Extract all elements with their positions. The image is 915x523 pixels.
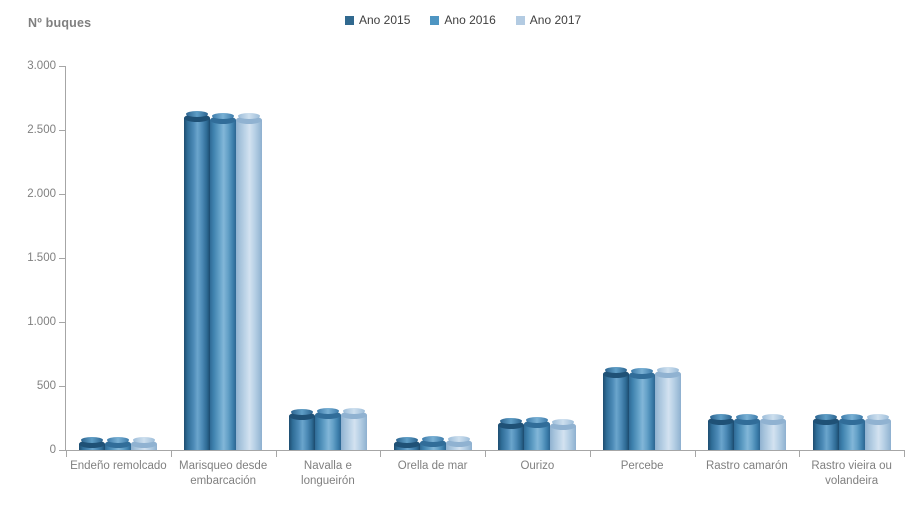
bar-top-ellipse-inner bbox=[657, 367, 679, 373]
x-axis-tick-mark bbox=[380, 450, 381, 457]
bar-top-ellipse-inner bbox=[186, 111, 208, 117]
bar-top-ellipse bbox=[341, 411, 367, 419]
bar-group bbox=[603, 66, 681, 450]
bar[interactable] bbox=[131, 444, 157, 450]
bar-top-ellipse-inner bbox=[238, 113, 260, 119]
bar-top-ellipse-inner bbox=[762, 414, 784, 420]
bar-body bbox=[341, 415, 367, 450]
bar-top-ellipse bbox=[839, 417, 865, 425]
y-axis-title: Nº buques bbox=[28, 16, 91, 30]
bar[interactable] bbox=[315, 415, 341, 450]
x-axis-tick-mark bbox=[276, 450, 277, 457]
bar-top-ellipse-inner bbox=[867, 414, 889, 420]
bar-top-ellipse bbox=[446, 439, 472, 447]
x-axis-tick-mark bbox=[799, 450, 800, 457]
bar[interactable] bbox=[865, 421, 891, 450]
bar-body bbox=[865, 421, 891, 450]
x-axis-tick-mark bbox=[66, 450, 67, 457]
bar-body bbox=[184, 118, 210, 450]
bar[interactable] bbox=[629, 375, 655, 450]
y-axis-tick-label: 0 bbox=[10, 444, 56, 456]
bar-body bbox=[655, 374, 681, 450]
bar[interactable] bbox=[394, 444, 420, 450]
legend-label-ano-2015: Ano 2015 bbox=[359, 13, 410, 27]
bar-top-ellipse-inner bbox=[422, 436, 444, 442]
bar[interactable] bbox=[420, 443, 446, 450]
y-axis-tick-label: 3.000 bbox=[10, 60, 56, 72]
legend-swatch-ano-2015 bbox=[345, 16, 354, 25]
bar-top-ellipse-inner bbox=[81, 437, 103, 443]
bar[interactable] bbox=[498, 425, 524, 450]
legend-swatch-ano-2016 bbox=[430, 16, 439, 25]
bar-body bbox=[813, 421, 839, 450]
bar-chart: Nº buques Ano 2015 Ano 2016 Ano 2017 050… bbox=[0, 0, 915, 523]
bar[interactable] bbox=[813, 421, 839, 450]
bar-body bbox=[289, 416, 315, 450]
bar-top-ellipse-inner bbox=[107, 437, 129, 443]
bar-group bbox=[289, 66, 367, 450]
bar-body bbox=[236, 120, 262, 450]
bar[interactable] bbox=[236, 120, 262, 450]
bar[interactable] bbox=[341, 415, 367, 450]
x-axis-category-label: Endeño remolcado bbox=[66, 459, 171, 474]
bar-body bbox=[734, 421, 760, 450]
legend-swatch-ano-2017 bbox=[516, 16, 525, 25]
bar-top-ellipse bbox=[420, 439, 446, 447]
x-axis-tick-mark bbox=[171, 450, 172, 457]
bar-top-ellipse-inner bbox=[710, 414, 732, 420]
bar-group bbox=[498, 66, 576, 450]
x-axis-tick-mark bbox=[590, 450, 591, 457]
legend-item-ano-2016[interactable]: Ano 2016 bbox=[430, 13, 495, 27]
y-axis-tick-label: 2.000 bbox=[10, 188, 56, 200]
bar-body bbox=[315, 415, 341, 450]
x-axis-category-label: Rastro vieira ou volandeira bbox=[799, 459, 904, 489]
bar-top-ellipse-inner bbox=[317, 408, 339, 414]
bar[interactable] bbox=[655, 374, 681, 450]
bar-top-ellipse-inner bbox=[343, 408, 365, 414]
bar[interactable] bbox=[79, 444, 105, 450]
bar-body bbox=[708, 421, 734, 450]
bar-top-ellipse-inner bbox=[631, 368, 653, 374]
bar[interactable] bbox=[760, 421, 786, 450]
legend-label-ano-2017: Ano 2017 bbox=[530, 13, 581, 27]
bar-group bbox=[79, 66, 157, 450]
bar-body bbox=[210, 120, 236, 450]
bar-top-ellipse-inner bbox=[448, 436, 470, 442]
bar-body bbox=[629, 375, 655, 450]
bar-top-ellipse-inner bbox=[605, 367, 627, 373]
bar[interactable] bbox=[603, 374, 629, 450]
bar-group bbox=[184, 66, 262, 450]
bar-top-ellipse bbox=[131, 440, 157, 448]
bar-group bbox=[813, 66, 891, 450]
bar-top-ellipse bbox=[734, 417, 760, 425]
bar[interactable] bbox=[708, 421, 734, 450]
x-axis-category-label: Orella de mar bbox=[380, 459, 485, 474]
bar[interactable] bbox=[289, 416, 315, 450]
y-axis-tick-label: 500 bbox=[10, 380, 56, 392]
bar[interactable] bbox=[550, 426, 576, 450]
bar-top-ellipse bbox=[708, 417, 734, 425]
x-axis-tick-mark bbox=[695, 450, 696, 457]
bar-body bbox=[603, 374, 629, 450]
bar-top-ellipse-inner bbox=[396, 437, 418, 443]
bar[interactable] bbox=[734, 421, 760, 450]
bar-body bbox=[760, 421, 786, 450]
x-axis-category-label: Ourizo bbox=[485, 459, 590, 474]
bar-top-ellipse bbox=[550, 422, 576, 430]
bar-body bbox=[839, 421, 865, 450]
bar[interactable] bbox=[446, 443, 472, 450]
x-axis-category-label: Navalla e longueirón bbox=[276, 459, 381, 489]
x-axis-category-label: Marisqueo desde embarcación bbox=[171, 459, 276, 489]
bar-top-ellipse-inner bbox=[841, 414, 863, 420]
bar[interactable] bbox=[524, 424, 550, 450]
legend-item-ano-2015[interactable]: Ano 2015 bbox=[345, 13, 410, 27]
chart-legend: Ano 2015 Ano 2016 Ano 2017 bbox=[345, 12, 581, 28]
bar[interactable] bbox=[210, 120, 236, 450]
bar-top-ellipse bbox=[524, 420, 550, 428]
legend-item-ano-2017[interactable]: Ano 2017 bbox=[516, 13, 581, 27]
x-axis-category-label: Percebe bbox=[590, 459, 695, 474]
bar-top-ellipse bbox=[315, 411, 341, 419]
bar-group bbox=[394, 66, 472, 450]
y-axis-tick-label: 1.000 bbox=[10, 316, 56, 328]
y-axis-tick-label: 2.500 bbox=[10, 124, 56, 136]
bar-top-ellipse bbox=[655, 370, 681, 378]
x-axis-category-label: Rastro camarón bbox=[695, 459, 800, 474]
y-axis-tick-label: 1.500 bbox=[10, 252, 56, 264]
bar[interactable] bbox=[105, 444, 131, 450]
bar-top-ellipse bbox=[603, 370, 629, 378]
bar-top-ellipse-inner bbox=[212, 113, 234, 119]
bar-top-ellipse-inner bbox=[500, 418, 522, 424]
x-axis-tick-mark bbox=[904, 450, 905, 457]
x-axis-tick-mark bbox=[485, 450, 486, 457]
bar-top-ellipse-inner bbox=[526, 417, 548, 423]
bar-top-ellipse bbox=[289, 412, 315, 420]
bar-top-ellipse bbox=[236, 116, 262, 124]
bar-top-ellipse-inner bbox=[736, 414, 758, 420]
bar-top-ellipse-inner bbox=[291, 409, 313, 415]
bar[interactable] bbox=[839, 421, 865, 450]
bar-group bbox=[708, 66, 786, 450]
bar[interactable] bbox=[184, 118, 210, 450]
bar-top-ellipse-inner bbox=[815, 414, 837, 420]
bar-top-ellipse bbox=[210, 116, 236, 124]
legend-label-ano-2016: Ano 2016 bbox=[444, 13, 495, 27]
bar-top-ellipse-inner bbox=[552, 419, 574, 425]
bar-top-ellipse bbox=[394, 440, 420, 448]
plot-area bbox=[66, 66, 904, 450]
bar-top-ellipse bbox=[760, 417, 786, 425]
bar-top-ellipse-inner bbox=[133, 437, 155, 443]
